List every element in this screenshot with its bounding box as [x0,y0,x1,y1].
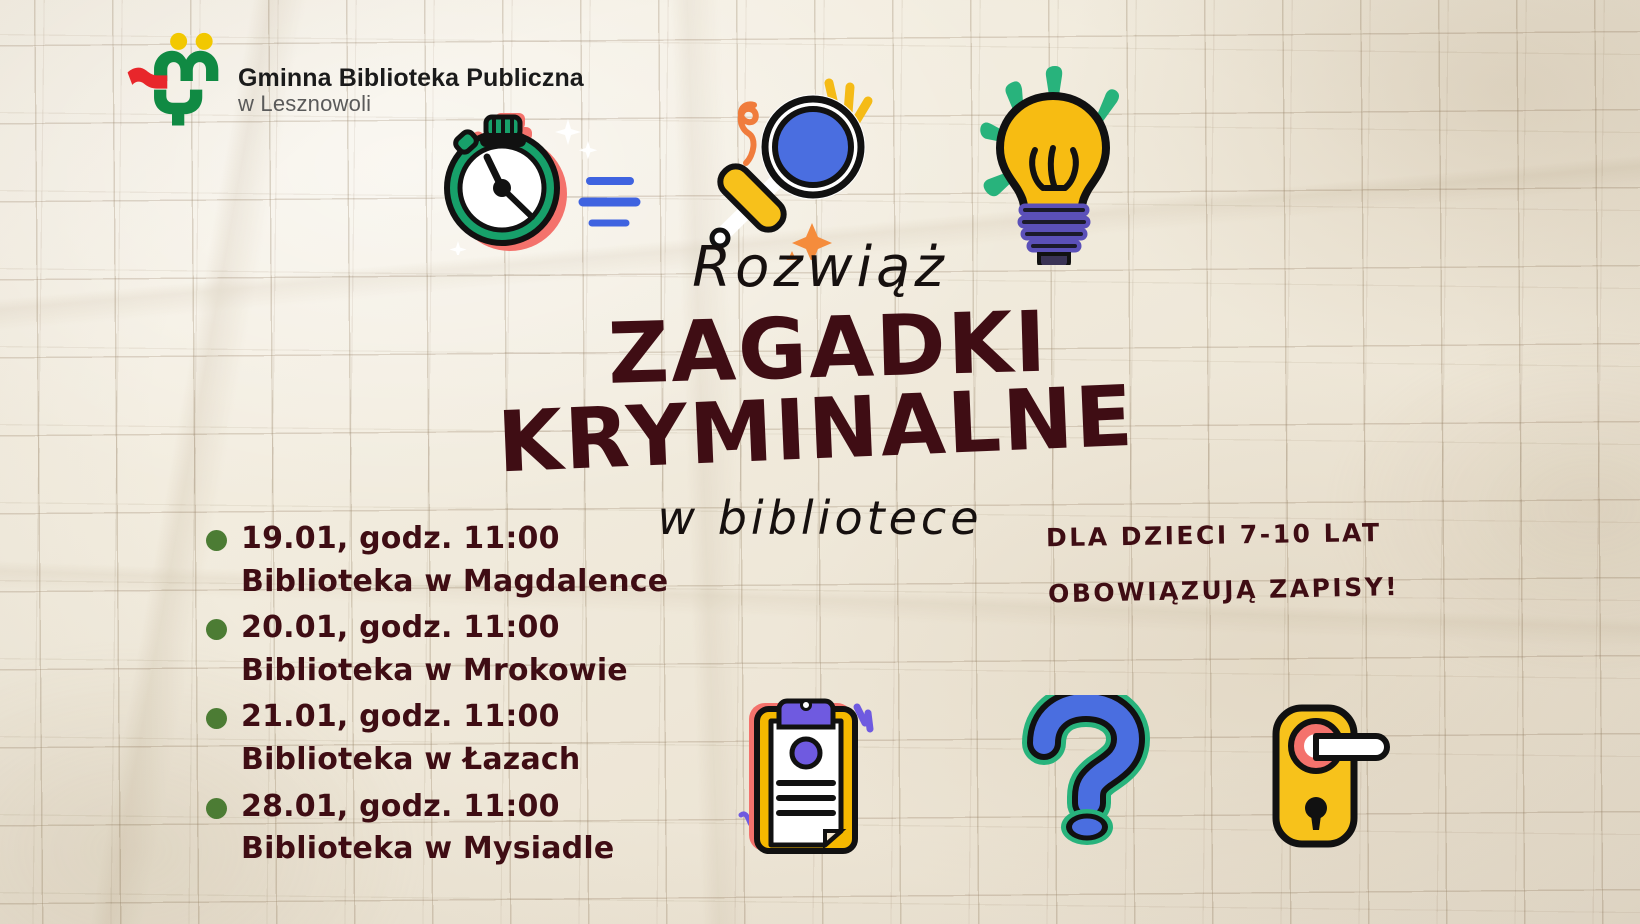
event-date-row: 20.01, godz. 11:00 [206,607,826,650]
event-place: Biblioteka w Łazach [241,739,826,782]
bullet-dot-icon [206,708,227,729]
event-place: Biblioteka w Mysiadle [241,828,826,871]
event-place: Biblioteka w Mrokowie [241,650,826,693]
event-date: 28.01, godz. 11:00 [241,786,560,829]
list-item: 19.01, godz. 11:00 Biblioteka w Magdalen… [206,518,826,603]
library-book-heart-logo-icon [120,30,224,134]
bullet-dot-icon [206,619,227,640]
list-item: 20.01, godz. 11:00 Biblioteka w Mrokowie [206,607,826,692]
notes-block: DLA DZIECI 7-10 LAT OBOWIĄZUJĄ ZAPISY! [1046,522,1466,602]
event-date-row: 21.01, godz. 11:00 [206,696,826,739]
light-bulb-icon [955,60,1150,265]
bullet-dot-icon [206,530,227,551]
event-date: 20.01, godz. 11:00 [241,607,560,650]
event-date-row: 28.01, godz. 11:00 [206,786,826,829]
door-knob-icon [1260,700,1410,850]
note-age-range: DLA DZIECI 7-10 LAT [1046,519,1466,551]
event-date: 21.01, godz. 11:00 [241,696,560,739]
event-place: Biblioteka w Magdalence [241,561,826,604]
logo-title-line1: Gminna Biblioteka Publiczna [238,64,584,92]
bullet-dot-icon [206,798,227,819]
stopwatch-icon [440,105,650,255]
question-mark-icon [1020,695,1155,845]
note-registration: OBOWIĄZUJĄ ZAPISY! [1048,573,1468,607]
poster-canvas: Gminna Biblioteka Publiczna w Lesznowoli [0,0,1640,924]
list-item: 28.01, godz. 11:00 Biblioteka w Mysiadle [206,786,826,871]
event-date-row: 19.01, godz. 11:00 [206,518,826,561]
magnifying-glass-icon [700,75,875,260]
schedule-list: 19.01, godz. 11:00 Biblioteka w Magdalen… [206,518,826,875]
event-date: 19.01, godz. 11:00 [241,518,560,561]
list-item: 21.01, godz. 11:00 Biblioteka w Łazach [206,696,826,781]
